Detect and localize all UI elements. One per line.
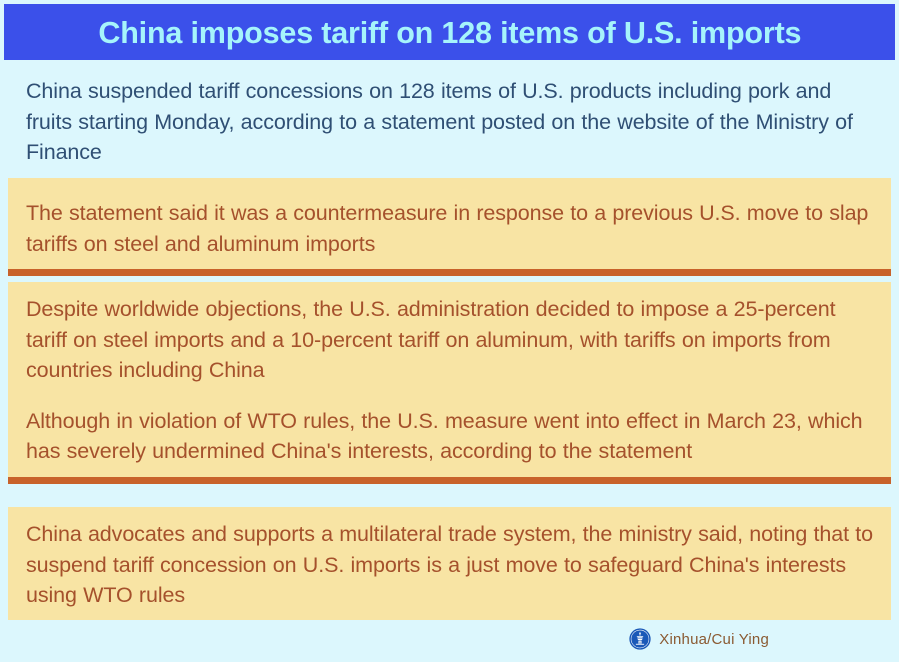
content-block-1: China suspended tariff concessions on 12… [8,64,891,195]
content-block-4-body: China advocates and supports a multilate… [8,507,891,621]
credit-label: Xinhua/Cui Ying [659,631,769,648]
content-block-4: China advocates and supports a multilate… [8,507,891,628]
paragraph: Although in violation of WTO rules, the … [26,406,873,467]
content-block-3-body: Despite worldwide objections, the U.S. a… [8,282,891,477]
header-banner: China imposes tariff on 128 items of U.S… [4,4,895,60]
paragraph: The statement said it was a countermeasu… [26,198,873,259]
paragraph: Despite worldwide objections, the U.S. a… [26,294,873,386]
credit-group: Xinhua/Cui Ying [629,628,769,650]
content-block-1-body: China suspended tariff concessions on 12… [8,64,891,178]
xinhua-logo-icon [629,628,651,650]
divider-rule-3 [8,477,891,484]
content-block-3: Despite worldwide objections, the U.S. a… [8,282,891,484]
paragraph: China suspended tariff concessions on 12… [26,76,873,168]
footer-credit-bar: Xinhua/Cui Ying [8,620,891,658]
divider-rule-2 [8,269,891,276]
page-title: China imposes tariff on 128 items of U.S… [98,17,801,48]
content-block-2: The statement said it was a countermeasu… [8,186,891,276]
content-block-2-body: The statement said it was a countermeasu… [8,186,891,269]
infographic-poster: China imposes tariff on 128 items of U.S… [0,0,899,662]
paragraph: China advocates and supports a multilate… [26,519,873,611]
